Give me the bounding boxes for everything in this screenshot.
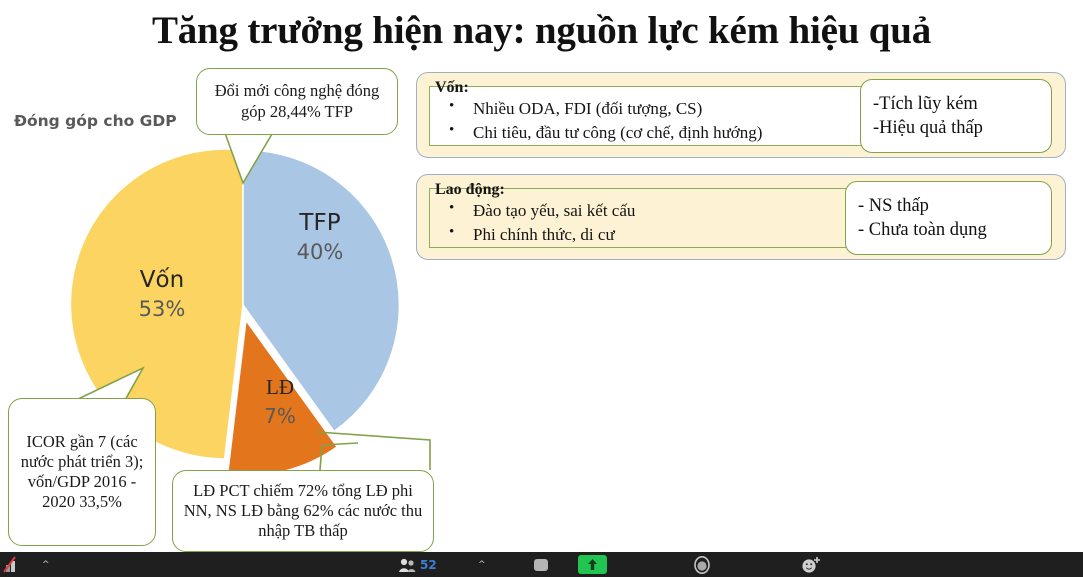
microphone-muted-icon [2,555,22,575]
reactions-smiley-plus-icon [800,555,822,575]
panel-von-result-line2: -Hiệu quả thấp [873,116,1041,140]
chevron-up-icon: ^ [478,560,486,570]
participants-icon [398,557,416,573]
record-button[interactable] [692,552,712,577]
pie-label-von-name: Vốn [102,267,222,293]
panel-von-result-line1: -Tích lũy kém [873,92,1041,116]
participants-count: 52 [420,558,437,572]
presentation-slide: Tăng trưởng hiện nay: nguồn lực kém hiệu… [0,0,1083,552]
panel-von-bullets: Nhiều ODA, FDI (đối tượng, CS) Chi tiêu,… [443,97,762,145]
panel-lao-dong[interactable]: Lao động: Đào tạo yếu, sai kết cấu Phi c… [416,174,1066,260]
panel-von-heading: Vốn: [435,79,469,97]
panel-lao-heading: Lao động: [435,181,505,199]
pie-label-von-value: 53% [102,297,222,321]
pie-label-ld-value: 7% [235,404,325,428]
mute-microphone-button[interactable] [2,552,22,577]
list-item: Phi chính thức, di cư [443,223,635,247]
pie-label-ld: LĐ 7% [235,375,325,428]
microphone-options-chevron[interactable]: ^ [42,552,50,577]
participants-options-chevron[interactable]: ^ [478,552,486,577]
panel-lao-result-line1: - NS thấp [858,194,1041,218]
panel-lao-result-line2: - Chưa toàn dụng [858,218,1041,242]
chat-button[interactable] [532,552,550,577]
record-circle-icon [692,555,712,575]
list-item: Nhiều ODA, FDI (đối tượng, CS) [443,97,762,121]
pie-label-tfp-name: TFP [260,210,380,236]
pie-label-tfp-value: 40% [260,240,380,264]
chat-bubble-icon [532,556,550,574]
list-item: Đào tạo yếu, sai kết cấu [443,199,635,223]
pie-label-tfp: TFP 40% [260,210,380,264]
share-screen-button[interactable] [578,555,607,574]
participants-button[interactable]: 52 [398,552,437,577]
panel-von-result[interactable]: -Tích lũy kém -Hiệu quả thấp [860,79,1052,153]
page-title: Tăng trưởng hiện nay: nguồn lực kém hiệu… [0,8,1083,53]
meeting-toolbar[interactable]: ^ 52 ^ [0,552,1083,577]
pie-label-von: Vốn 53% [102,267,222,321]
pie-label-ld-name: LĐ [235,375,325,400]
callout-ld[interactable]: LĐ PCT chiếm 72% tổng LĐ phi NN, NS LĐ b… [172,470,434,552]
chart-title: Đóng góp cho GDP [14,112,177,130]
panel-von[interactable]: Vốn: Nhiều ODA, FDI (đối tượng, CS) Chi … [416,72,1066,158]
share-screen-arrow-icon [586,558,599,571]
panel-lao-bullets: Đào tạo yếu, sai kết cấu Phi chính thức,… [443,199,635,247]
list-item: Chi tiêu, đầu tư công (cơ chế, định hướn… [443,121,762,145]
panel-lao-result[interactable]: - NS thấp - Chưa toàn dụng [845,181,1052,255]
callout-icor[interactable]: ICOR gần 7 (các nước phát triển 3); vốn/… [8,398,156,546]
reactions-button[interactable] [800,552,822,577]
callout-tfp[interactable]: Đổi mới công nghệ đóng góp 28,44% TFP [196,68,398,135]
chevron-up-icon: ^ [42,560,50,570]
